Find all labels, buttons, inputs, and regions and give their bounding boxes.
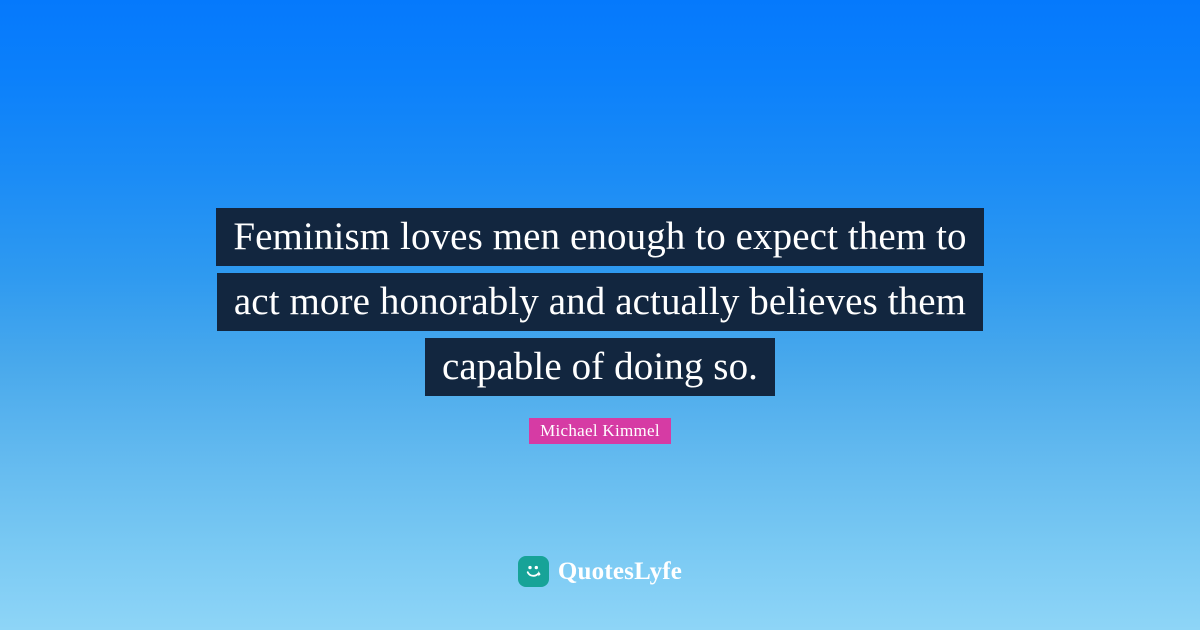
quote-card: Feminism loves men enough to expect them… [0,0,1200,630]
brand-name: QuotesLyfe [558,556,682,587]
brand-logo[interactable]: QuotesLyfe [0,556,1200,587]
quote-smiley-icon [518,556,549,587]
quote-line-2: act more honorably and actually believes… [217,273,983,331]
quote-line-3: capable of doing so. [425,338,775,396]
quote-line-1: Feminism loves men enough to expect them… [216,208,983,266]
author-name: Michael Kimmel [529,418,671,444]
author-row: Michael Kimmel [0,418,1200,444]
quote-text-block: Feminism loves men enough to expect them… [0,208,1200,396]
